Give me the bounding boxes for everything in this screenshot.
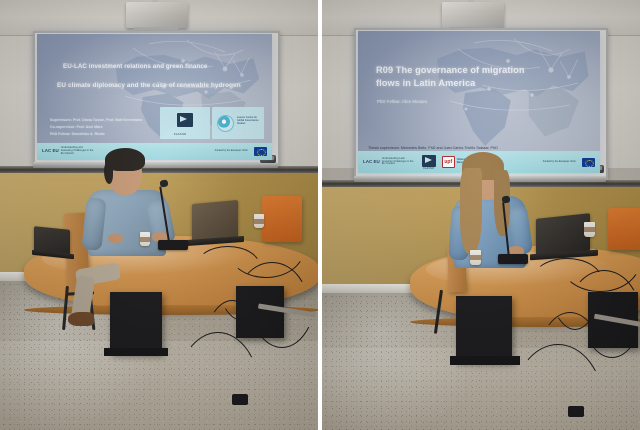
lac-eu-logo-caption: Understanding and Assessing Challenges i… (61, 147, 95, 156)
photo-panel-right: R09 The governance of migration flows in… (322, 0, 640, 430)
photo-panel-left: EU-LAC investment relations and green fi… (0, 0, 318, 430)
microphone-base-left (158, 240, 188, 250)
flacso-logo-label: FLACSO (174, 132, 186, 136)
slide-logo-card-flacso: FLACSO (160, 107, 210, 139)
microphone-capsule-right (502, 196, 511, 204)
microphone-base-right (498, 254, 528, 264)
paper-cup-left-far (254, 214, 264, 228)
paper-cup-left-near (140, 232, 150, 246)
lac-eu-logo-caption: Understanding Latin American Challenges … (382, 158, 416, 167)
eu-funding-note-left: Funded by the European Union (215, 150, 248, 153)
flacso-logo-icon (177, 113, 193, 127)
presenter-female-hair-left (460, 168, 482, 254)
cup-sleeve (254, 219, 264, 224)
presenter-male-hand-left (108, 234, 123, 243)
slide-subtitle: PhD Fellow: Alice Moraes (377, 99, 517, 104)
whiteboard-tray (33, 162, 278, 168)
cup-sleeve (584, 227, 595, 232)
table-pedestal-foot-near (104, 348, 168, 356)
eu-flag-icon-right (582, 158, 595, 167)
flacso-logo-icon (422, 155, 436, 167)
slide-title-line-2: flows in Latin America (376, 78, 566, 89)
lac-eu-logo-mark: LAC EU (363, 160, 380, 165)
upf-logo-mark: upf (442, 156, 455, 168)
lac-eu-logo: LAC EU Understanding and Assessing Chall… (42, 147, 95, 156)
ceiling-projector (442, 2, 504, 28)
cup-sleeve (470, 255, 481, 260)
lac-eu-logo-mark: LAC EU (42, 149, 59, 154)
flacso-logo-label: FLACSO (423, 167, 434, 170)
flacso-logo: FLACSO (422, 155, 436, 170)
eu-flag-icon-left (254, 147, 267, 156)
slide-logo-card-leuven: Leuven Centre for Global Governance Stud… (212, 107, 264, 139)
table-pedestal-foot-near (450, 356, 520, 365)
panel-divider (318, 0, 322, 430)
lac-eu-logo: LAC EU Understanding Latin American Chal… (363, 158, 416, 167)
chair-orange-right (608, 208, 640, 250)
slide-logo-strip-left: LAC EU Understanding and Assessing Chall… (37, 143, 272, 160)
paper-cup-right-far (584, 222, 595, 237)
slide-title-line-2: EU climate diplomacy and the case of ren… (57, 82, 263, 90)
presenter-male-sideburn (104, 162, 113, 184)
chair-orange-left (262, 196, 302, 242)
presenter-male-shoe (68, 312, 94, 326)
power-adapter-right (568, 406, 584, 417)
leuven-centre-logo-icon (217, 115, 234, 132)
power-adapter-left (232, 394, 248, 405)
connection-arcs-graphic (37, 34, 272, 160)
slide-title-line-1: R09 The governance of migration (376, 65, 566, 76)
table-pedestal-near (110, 292, 162, 354)
two-panel-photo: EU-LAC investment relations and green fi… (0, 0, 640, 430)
cup-sleeve (140, 237, 150, 242)
eu-funding-note-right: Funded by the European Union (543, 161, 576, 164)
slide-title-line-1: EU-LAC investment relations and green fi… (63, 63, 253, 71)
laptop-left-primary-screen (192, 200, 238, 242)
leuven-centre-logo-label: Leuven Centre for Global Governance Stud… (237, 117, 262, 125)
projected-slide-left: EU-LAC investment relations and green fi… (37, 34, 272, 160)
ceiling-projector (126, 2, 188, 28)
paper-cup-right-near (470, 250, 481, 265)
table-pedestal-near (456, 296, 512, 362)
